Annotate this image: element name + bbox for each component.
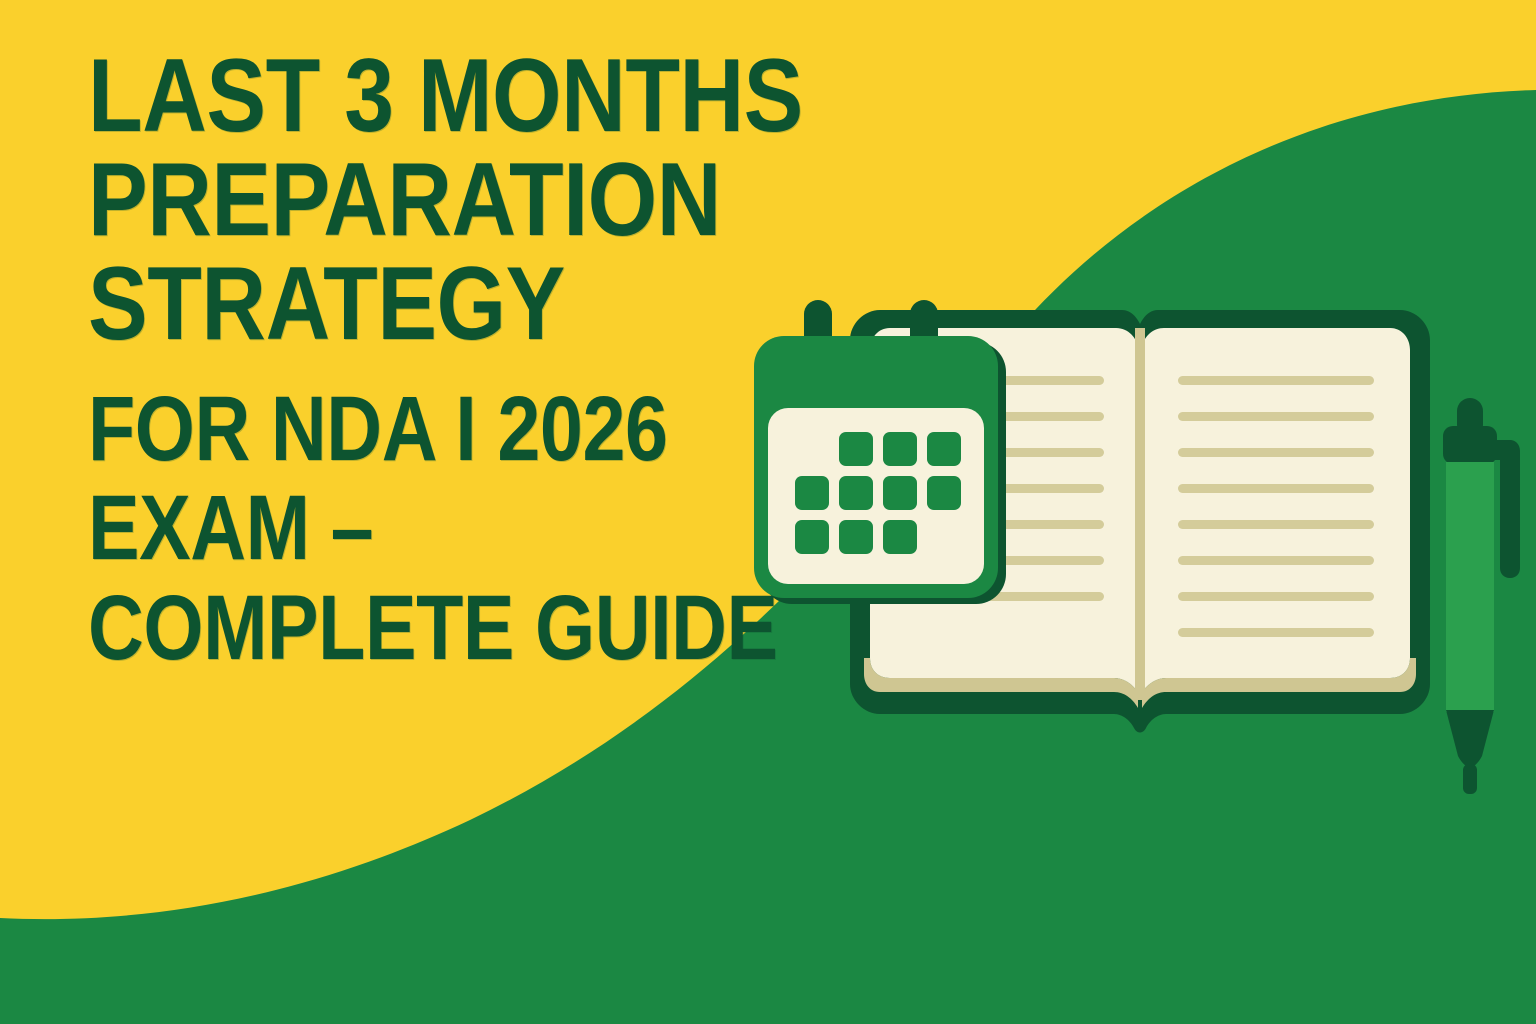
pen-nib xyxy=(1463,764,1477,794)
pen-clip xyxy=(1490,440,1520,578)
calendar-cell xyxy=(795,520,829,554)
pen-tip-cone xyxy=(1446,710,1494,768)
calendar-cell xyxy=(795,476,829,510)
title-line-3: STRATEGY xyxy=(88,254,759,356)
subtitle-line-3: COMPLETE GUIDE xyxy=(88,581,743,677)
calendar-cell xyxy=(839,432,873,466)
subtitle-line-2: EXAM – xyxy=(88,481,743,577)
pen-collar xyxy=(1443,426,1497,464)
calendar-icon xyxy=(754,300,1006,604)
calendar-cell xyxy=(839,520,873,554)
subtitle-line-1: FOR NDA I 2026 xyxy=(88,382,743,478)
calendar-cell xyxy=(883,432,917,466)
pen-barrel xyxy=(1446,462,1494,712)
pen-icon xyxy=(1443,398,1520,794)
calendar-cell xyxy=(883,476,917,510)
title-line-2: PREPARATION xyxy=(88,150,759,252)
calendar-cell xyxy=(927,432,961,466)
calendar-cell xyxy=(883,520,917,554)
banner-root: LAST 3 MONTHS PREPARATION STRATEGY FOR N… xyxy=(0,0,1536,1024)
title-line-1: LAST 3 MONTHS xyxy=(88,46,759,148)
illustration-group xyxy=(730,280,1536,920)
calendar-cell xyxy=(839,476,873,510)
book-spine-gutter xyxy=(1135,328,1145,700)
calendar-cell xyxy=(927,476,961,510)
